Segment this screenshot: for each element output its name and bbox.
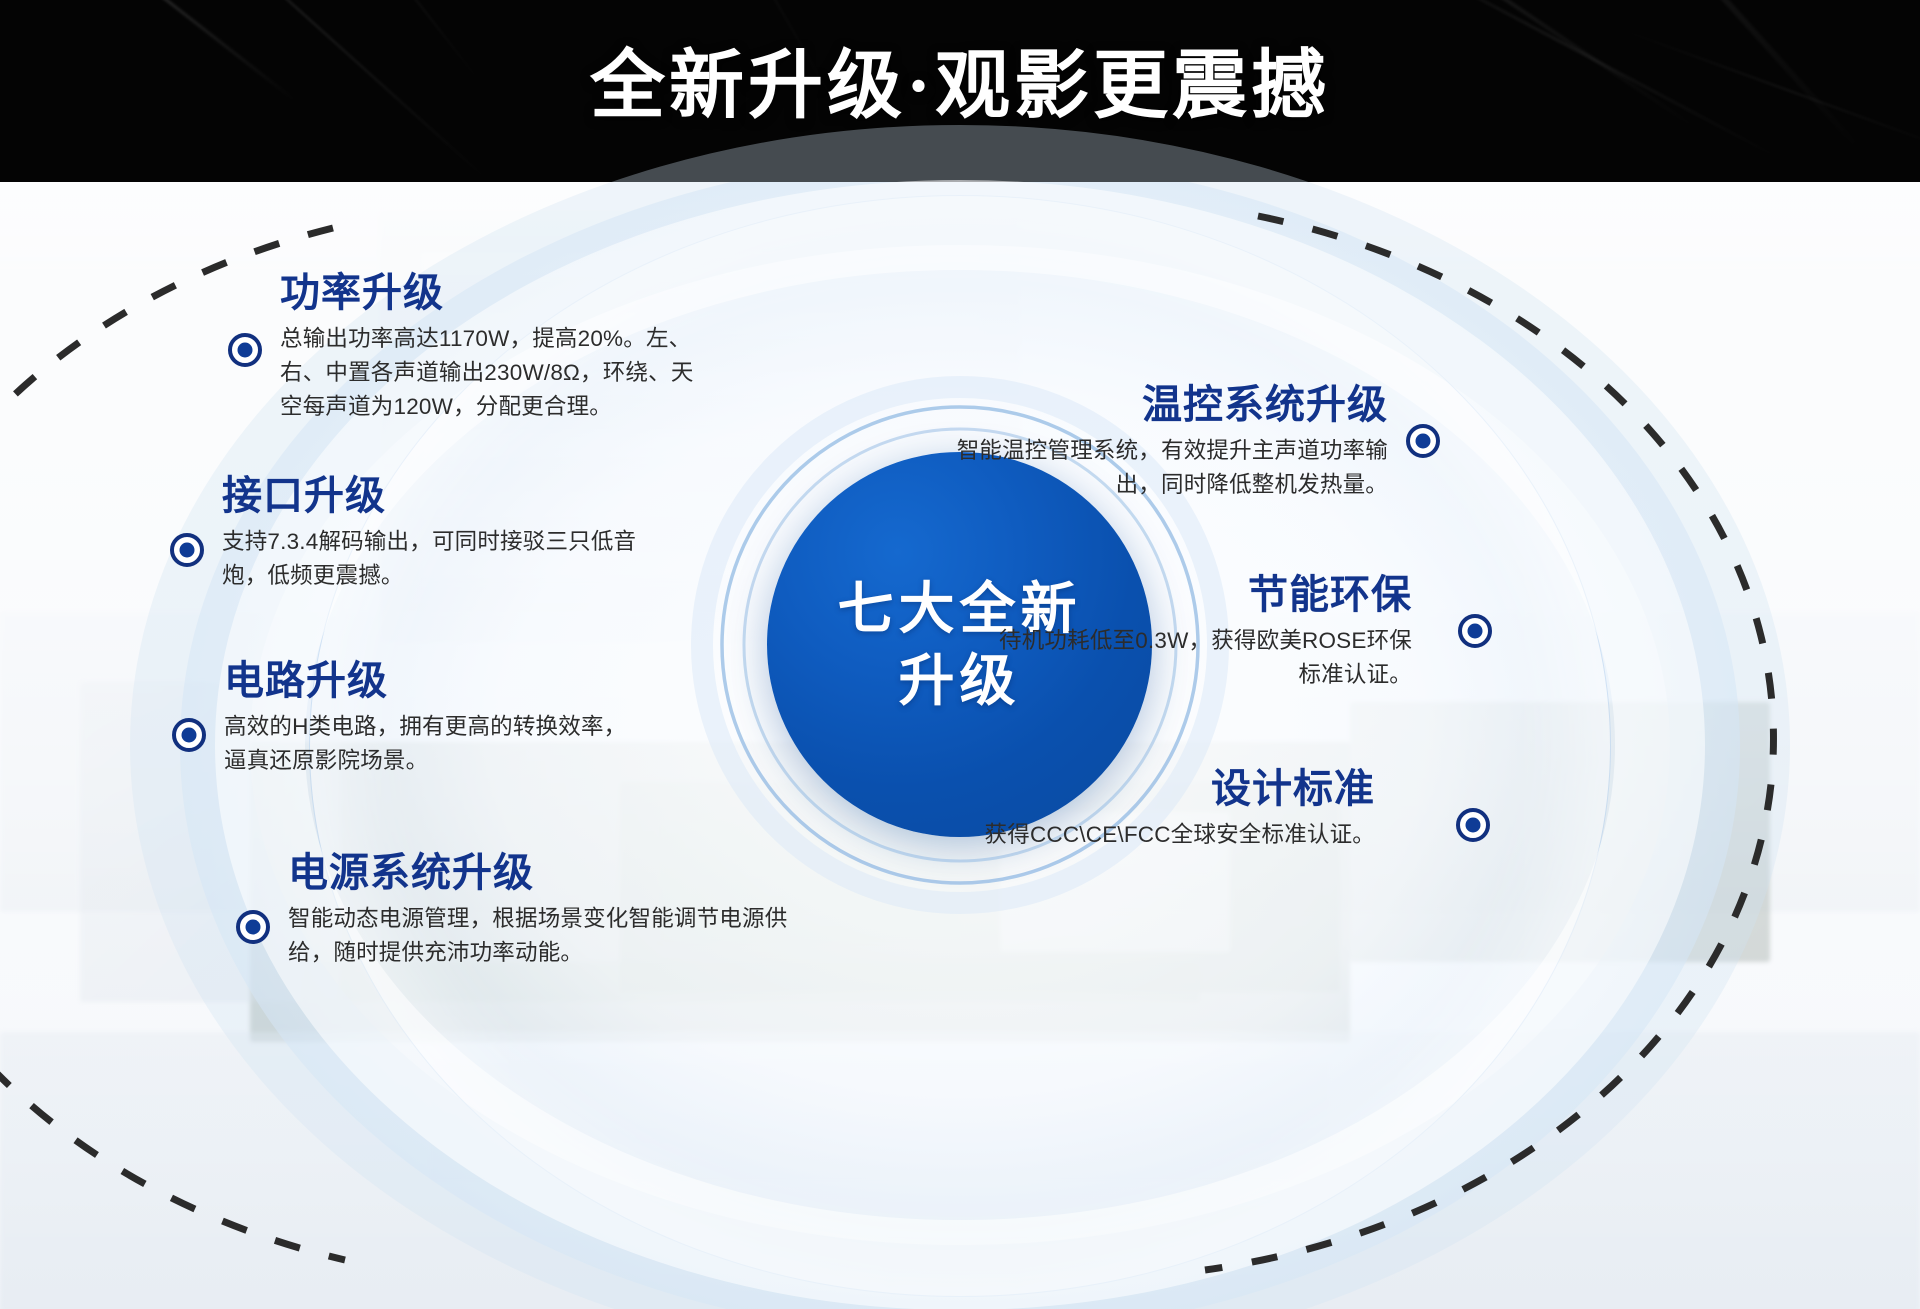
infographic-canvas: 全新升级·观影更震撼 [0,0,1920,1309]
feature-text-block: 温控系统升级 智能温控管理系统，有效提升主声道功率输出，同时降低整机发热量。 [918,382,1388,502]
bullet-marker-icon [1456,808,1490,842]
bullet-marker-icon [172,718,206,752]
feature-title: 设计标准 [955,766,1375,812]
feature-body: 待机功耗低至0.3W，获得欧美ROSE环保标准认证。 [992,624,1412,692]
feature-text-block: 接口升级 支持7.3.4解码输出，可同时接驳三只低音炮，低频更震撼。 [222,473,640,593]
page-title: 全新升级·观影更震撼 [0,48,1920,127]
bullet-marker-icon [236,910,270,944]
feature-text-block: 功率升级 总输出功率高达1170W，提高20%。左、右、中置各声道输出230W/… [280,270,698,425]
feature-body: 支持7.3.4解码输出，可同时接驳三只低音炮，低频更震撼。 [222,525,640,593]
feature-title: 电路升级 [224,658,642,704]
bullet-marker-icon [228,333,262,367]
feature-title: 功率升级 [280,270,698,316]
feature-title: 电源系统升级 [288,850,796,896]
feature-text-block: 节能环保 待机功耗低至0.3W，获得欧美ROSE环保标准认证。 [992,572,1412,692]
feature-body: 获得CCC\CE\FCC全球安全标准认证。 [955,818,1375,852]
feature-item-power-system[interactable]: 电源系统升级 智能动态电源管理，根据场景变化智能调节电源供给，随时提供充沛功率动… [236,850,796,970]
feature-item-design-standard[interactable]: 设计标准 获得CCC\CE\FCC全球安全标准认证。 [955,766,1375,852]
header-banner: 全新升级·观影更震撼 [0,0,1920,182]
feature-text-block: 设计标准 获得CCC\CE\FCC全球安全标准认证。 [955,766,1375,852]
feature-item-interface[interactable]: 接口升级 支持7.3.4解码输出，可同时接驳三只低音炮，低频更震撼。 [170,473,640,593]
feature-item-energy-saving[interactable]: 节能环保 待机功耗低至0.3W，获得欧美ROSE环保标准认证。 [992,572,1412,692]
feature-body: 智能温控管理系统，有效提升主声道功率输出，同时降低整机发热量。 [918,434,1388,502]
feature-item-circuit[interactable]: 电路升级 高效的H类电路，拥有更高的转换效率，逼真还原影院场景。 [172,658,642,778]
feature-item-power[interactable]: 功率升级 总输出功率高达1170W，提高20%。左、右、中置各声道输出230W/… [228,270,698,425]
feature-item-thermal[interactable]: 温控系统升级 智能温控管理系统，有效提升主声道功率输出，同时降低整机发热量。 [918,382,1388,502]
feature-title: 节能环保 [992,572,1412,618]
bullet-marker-icon [170,533,204,567]
feature-body: 总输出功率高达1170W，提高20%。左、右、中置各声道输出230W/8Ω，环绕… [280,322,698,425]
feature-text-block: 电路升级 高效的H类电路，拥有更高的转换效率，逼真还原影院场景。 [224,658,642,778]
feature-text-block: 电源系统升级 智能动态电源管理，根据场景变化智能调节电源供给，随时提供充沛功率动… [288,850,796,970]
feature-body: 高效的H类电路，拥有更高的转换效率，逼真还原影院场景。 [224,710,642,778]
feature-body: 智能动态电源管理，根据场景变化智能调节电源供给，随时提供充沛功率动能。 [288,902,796,970]
bullet-marker-icon [1406,424,1440,458]
feature-title: 温控系统升级 [918,382,1388,428]
feature-title: 接口升级 [222,473,640,519]
bullet-marker-icon [1458,614,1492,648]
